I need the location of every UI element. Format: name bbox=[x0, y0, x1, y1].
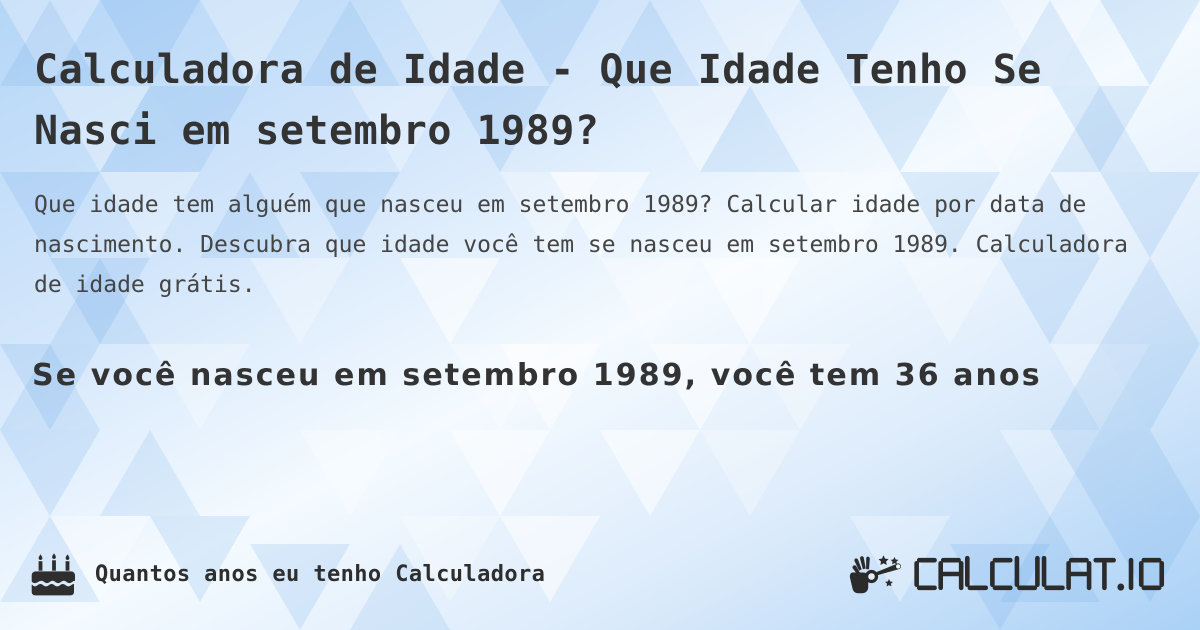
og-card: Calculadora de Idade - Que Idade Tenho S… bbox=[0, 0, 1200, 630]
page-title: Calculadora de Idade - Que Idade Tenho S… bbox=[34, 40, 1064, 162]
card-content: Calculadora de Idade - Que Idade Tenho S… bbox=[0, 0, 1200, 630]
birthday-cake-icon bbox=[30, 551, 78, 597]
brand-name: Quantos anos eu tenho Calculadora bbox=[95, 562, 545, 587]
hand-magic-wand-icon bbox=[848, 551, 906, 597]
brand-block: Quantos anos eu tenho Calculadora bbox=[30, 551, 545, 597]
page-description: Que idade tem alguém que nasceu em setem… bbox=[34, 185, 1149, 305]
age-answer-text: Se você nasceu em setembro 1989, você te… bbox=[32, 352, 1122, 400]
card-footer: Quantos anos eu tenho Calculadora bbox=[0, 518, 1200, 630]
calculatio-logo[interactable] bbox=[848, 551, 1166, 597]
calculatio-wordmark bbox=[910, 552, 1166, 596]
